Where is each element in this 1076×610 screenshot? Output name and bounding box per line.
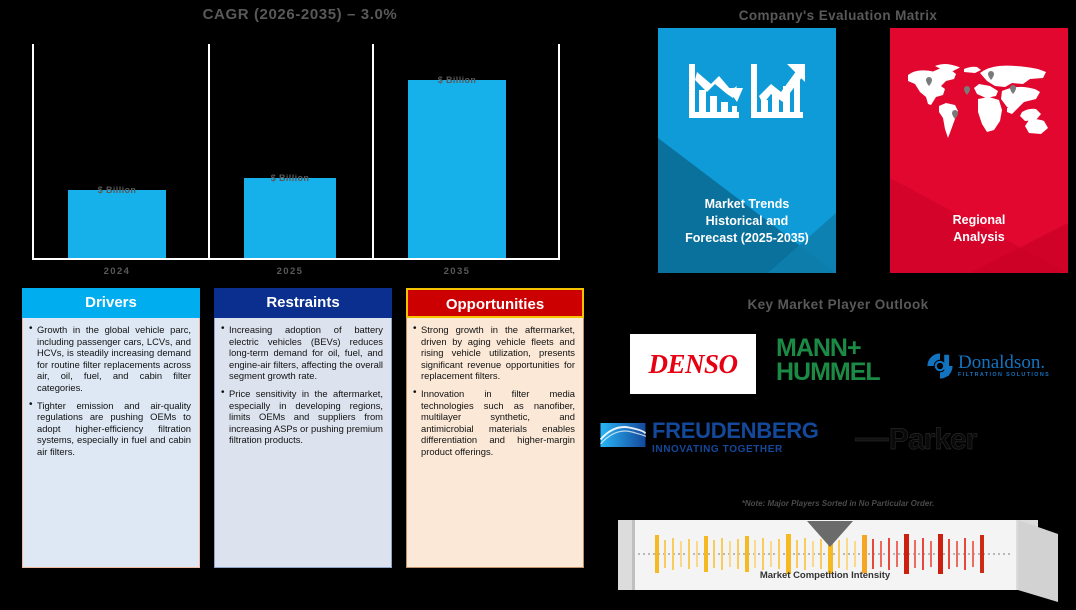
baseline-2 <box>208 258 372 260</box>
market-trends-card[interactable]: Market Trends Historical and Forecast (2… <box>658 28 836 273</box>
bar-value-label-2025: $ Billion <box>230 173 350 183</box>
list-item: Growth in the global vehicle parc, inclu… <box>29 324 191 394</box>
left-panel: CAGR (2026-2035) – 3.0% $ Billion 2024 $… <box>0 0 600 610</box>
regional-analysis-line-1: Regional <box>890 212 1068 229</box>
list-item: Tighter emission and air-quality regulat… <box>29 400 191 458</box>
logo-donaldson-subtext: FILTRATION SOLUTIONS <box>958 372 1050 378</box>
restraints-card: Restraints Increasing adoption of batter… <box>214 288 392 568</box>
logo-donaldson-text: Donaldson. <box>958 354 1050 372</box>
bar-chart-trend-icon <box>658 62 836 141</box>
key-market-player-outlook-title: Key Market Player Outlook <box>600 297 1076 312</box>
drivers-body: Growth in the global vehicle parc, inclu… <box>22 318 200 568</box>
opportunities-body: Strong growth in the aftermarket, driven… <box>406 318 584 568</box>
bar-2024 <box>68 190 166 258</box>
baseline-1 <box>32 258 208 260</box>
freudenberg-mark-icon <box>600 420 646 450</box>
donaldson-mark-icon <box>926 352 954 380</box>
parker-dash-icon <box>855 435 889 445</box>
logo-freudenberg-text: FREUDENBERG <box>652 418 819 444</box>
regional-analysis-line-2: Analysis <box>890 229 1068 246</box>
right-panel: Company's Evaluation Matrix <box>600 0 1076 610</box>
bar-2025 <box>244 178 336 258</box>
bar-2035 <box>408 80 506 258</box>
logo-freudenberg-subtext: INNOVATING TOGETHER <box>652 444 819 455</box>
bar-chart-trend-icon-svg <box>687 62 807 136</box>
world-map-icon-svg <box>904 60 1054 142</box>
opportunities-heading: Opportunities <box>406 288 584 318</box>
logo-denso[interactable]: DENSO <box>630 334 756 394</box>
list-item: Innovation in filter media technologies … <box>413 388 575 458</box>
gauge-caption: Market Competition Intensity <box>618 570 1032 581</box>
regional-analysis-card[interactable]: Regional Analysis <box>890 28 1068 273</box>
list-item: Increasing adoption of battery electric … <box>221 324 383 382</box>
market-trends-card-label: Market Trends Historical and Forecast (2… <box>658 196 836 247</box>
x-axis-label-2024: 2024 <box>57 266 177 277</box>
opportunities-card: Opportunities Strong growth in the after… <box>406 288 584 568</box>
regional-analysis-card-label: Regional Analysis <box>890 212 1068 246</box>
logo-parker-text: Parker <box>889 423 976 457</box>
restraints-body: Increasing adoption of battery electric … <box>214 318 392 568</box>
market-size-bar-chart: $ Billion 2024 $ Billion 2025 $ Billion … <box>20 44 580 276</box>
bar-value-label-2035: $ Billion <box>397 75 517 85</box>
logo-mann-hummel-line-2: HUMMEL <box>776 360 916 384</box>
bar-value-label-2024: $ Billion <box>57 185 177 195</box>
logo-donaldson[interactable]: Donaldson. FILTRATION SOLUTIONS <box>926 348 1074 384</box>
evaluation-matrix-title: Company's Evaluation Matrix <box>600 8 1076 23</box>
axis-line-1 <box>32 44 34 260</box>
gauge-pointer-icon <box>618 520 1058 602</box>
drivers-card: Drivers Growth in the global vehicle par… <box>22 288 200 568</box>
axis-line-2 <box>208 44 210 260</box>
market-competition-gauge: Market Competition Intensity <box>618 520 1058 602</box>
market-trends-line-1: Market Trends <box>658 196 836 213</box>
list-item: Price sensitivity in the aftermarket, es… <box>221 388 383 446</box>
drivers-heading: Drivers <box>22 288 200 318</box>
baseline-3 <box>372 258 560 260</box>
axis-line-3 <box>372 44 374 260</box>
market-trends-line-2: Historical and <box>658 213 836 230</box>
logo-mann-hummel-line-1: MANN+ <box>776 336 916 360</box>
logo-parker[interactable]: Parker <box>855 420 1015 460</box>
world-map-icon <box>890 60 1068 147</box>
x-axis-label-2035: 2035 <box>397 266 517 277</box>
x-axis-label-2025: 2025 <box>230 266 350 277</box>
axis-line-4 <box>558 44 560 260</box>
players-note: *Note: Major Players Sorted in No Partic… <box>600 499 1076 508</box>
logo-mann-hummel[interactable]: MANN+ HUMMEL <box>776 336 916 392</box>
logo-freudenberg[interactable]: FREUDENBERG INNOVATING TOGETHER <box>600 418 830 468</box>
cagr-title: CAGR (2026-2035) – 3.0% <box>0 6 600 23</box>
list-item: Strong growth in the aftermarket, driven… <box>413 324 575 382</box>
restraints-heading: Restraints <box>214 288 392 318</box>
logo-denso-text: DENSO <box>648 349 737 380</box>
market-trends-line-3: Forecast (2025-2035) <box>658 230 836 247</box>
infographic-page: CAGR (2026-2035) – 3.0% $ Billion 2024 $… <box>0 0 1076 610</box>
